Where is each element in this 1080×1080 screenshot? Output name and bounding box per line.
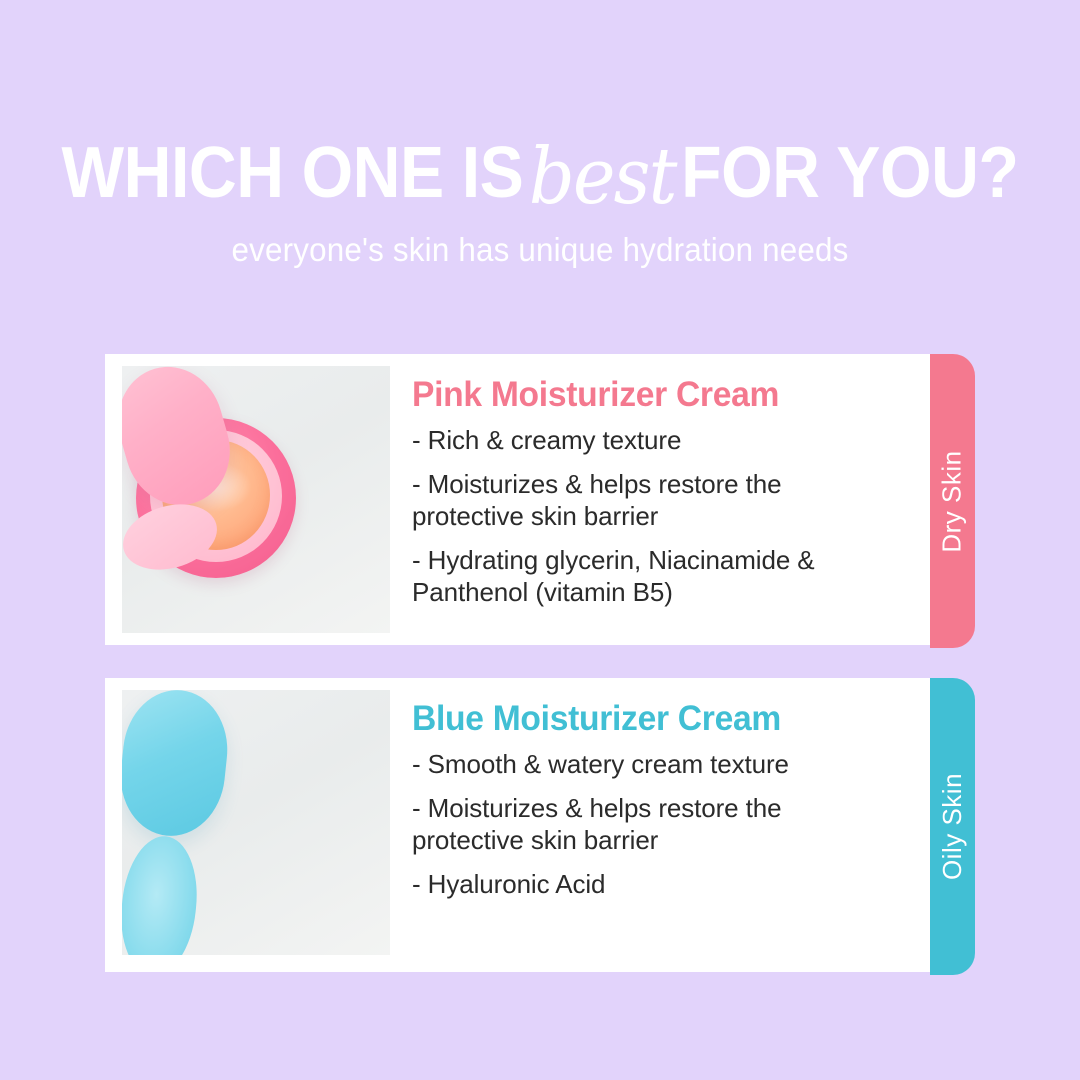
- headline-part-2: FOR YOU?: [681, 130, 1018, 216]
- pink-bullet-2: - Moisturizes & helps restore the protec…: [412, 468, 900, 532]
- blue-product-title: Blue Moisturizer Cream: [412, 698, 880, 740]
- blue-jar-lid: [122, 690, 233, 841]
- pink-card-content: Pink Moisturizer Cream - Rich & creamy t…: [390, 354, 930, 620]
- blue-card-content: Blue Moisturizer Cream - Smooth & watery…: [390, 678, 930, 912]
- skin-type-tab-dry[interactable]: Dry Skin: [930, 354, 975, 648]
- pink-bullet-3: - Hydrating glycerin, Niacinamide & Pant…: [412, 544, 900, 608]
- product-card-pink[interactable]: Pink Moisturizer Cream - Rich & creamy t…: [105, 354, 930, 645]
- page-title: WHICH ONE ISbestFOR YOU?: [43, 128, 1037, 216]
- headline-part-1: WHICH ONE IS: [62, 130, 524, 216]
- blue-jar-lid-face: [122, 833, 203, 955]
- blue-jar-photo: [122, 690, 390, 955]
- blue-bullet-3: - Hyaluronic Acid: [412, 868, 900, 900]
- headline-script-word: best: [523, 132, 681, 222]
- skin-type-tab-oily-label: Oily Skin: [937, 773, 968, 880]
- pink-jar-photo: [122, 366, 390, 633]
- skin-type-tab-oily[interactable]: Oily Skin: [930, 678, 975, 975]
- product-card-blue[interactable]: Blue Moisturizer Cream - Smooth & watery…: [105, 678, 930, 972]
- blue-bullet-1: - Smooth & watery cream texture: [412, 748, 900, 780]
- header: WHICH ONE ISbestFOR YOU? everyone's skin…: [0, 128, 1080, 270]
- skin-type-tab-dry-label: Dry Skin: [937, 450, 968, 552]
- blue-bullet-2: - Moisturizes & helps restore the protec…: [412, 792, 900, 856]
- pink-bullet-1: - Rich & creamy texture: [412, 424, 900, 456]
- page-subtitle: everyone's skin has unique hydration nee…: [27, 230, 1053, 270]
- pink-product-title: Pink Moisturizer Cream: [412, 374, 880, 416]
